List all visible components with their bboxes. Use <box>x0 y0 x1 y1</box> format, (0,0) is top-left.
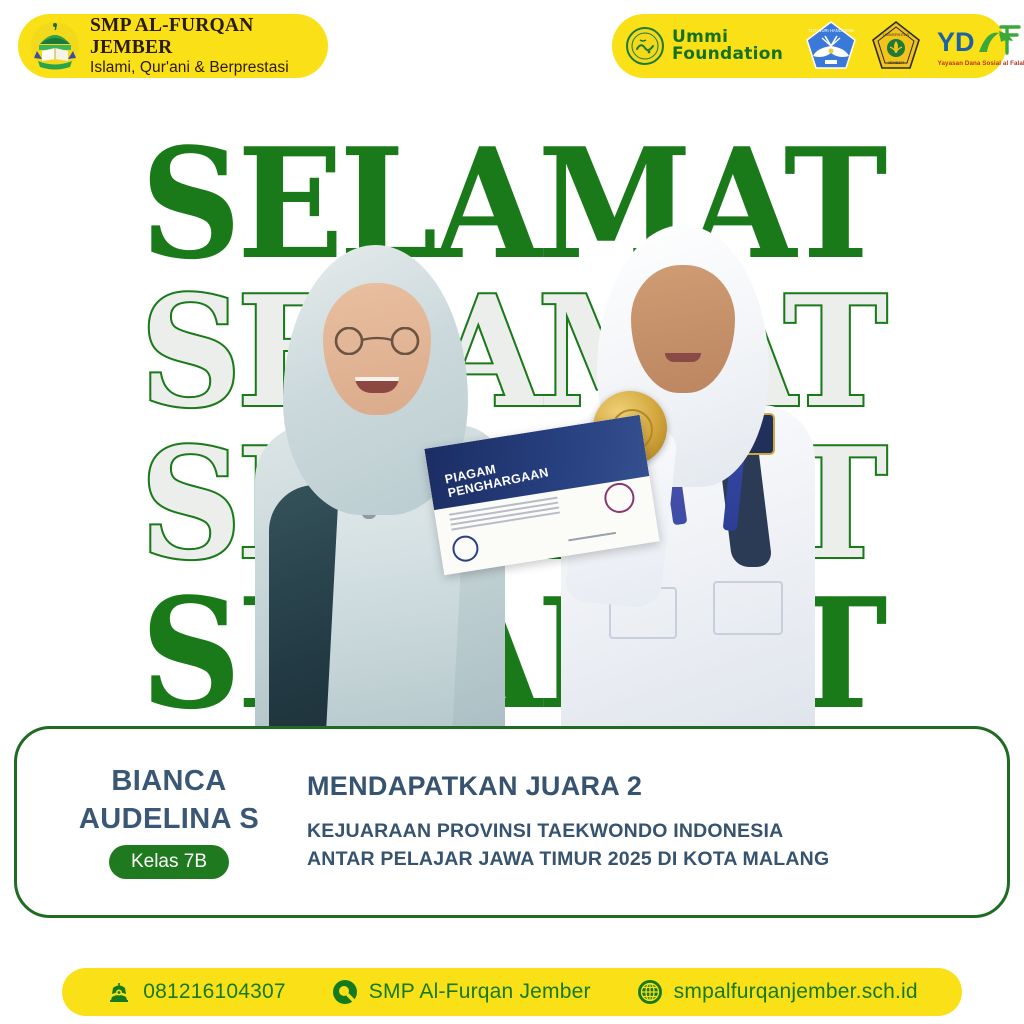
achievement-detail-line2: ANTAR PELAJAR JAWA TIMUR 2025 DI KOTA MA… <box>307 846 981 874</box>
partner-logos-chip: Ummi Foundation TUT WURI HANDAYANI UNIVE… <box>612 14 1006 78</box>
globe-icon <box>637 979 663 1005</box>
ummi-foundation-logo: Ummi Foundation <box>626 27 783 65</box>
school-title: SMP AL-FURQAN JEMBER <box>90 15 328 59</box>
class-badge: Kelas 7B <box>109 845 229 879</box>
svg-text:TUT WURI HANDAYANI: TUT WURI HANDAYANI <box>809 28 854 33</box>
achievement-detail-line1: KEJUARAAN PROVINSI TAEKWONDO INDONESIA <box>307 818 981 846</box>
achievement-card: BIANCA AUDELINA S Kelas 7B MENDAPATKAN J… <box>14 726 1010 918</box>
uniform-pocket-right <box>713 581 783 635</box>
school-tagline: Islami, Qur'ani & Berprestasi <box>90 59 328 76</box>
ydsf-subtitle: Yayasan Dana Sosial al Falah <box>938 60 1024 67</box>
certificate-stamp-icon <box>602 481 636 515</box>
tut-wuri-handayani-icon: TUT WURI HANDAYANI <box>805 20 857 72</box>
winner-name-line2: AUDELINA S <box>79 803 259 835</box>
social-handle: SMP Al-Furqan Jember <box>369 980 591 1004</box>
winner-name-line1: BIANCA <box>111 765 226 797</box>
svg-text:UNIVERSITAS: UNIVERSITAS <box>883 32 910 37</box>
contact-social[interactable]: SMP Al-Furqan Jember <box>332 979 591 1005</box>
telephone-icon <box>106 979 132 1005</box>
school-identity-chip: SMP AL-FURQAN JEMBER Islami, Qur'ani & B… <box>18 14 328 78</box>
achievement-title: MENDAPATKAN JUARA 2 <box>307 771 981 802</box>
congratulations-poster: SMP AL-FURQAN JEMBER Islami, Qur'ani & B… <box>0 0 1024 1024</box>
contact-footer: 081216104307 SMP Al-Furqan Jember <box>62 968 962 1016</box>
search-circle-icon <box>332 979 358 1005</box>
ydsf-logo-icon: YD Yayasan Dana Sosial al Falah <box>935 21 1024 71</box>
ummi-arabic-seal-icon <box>626 27 664 65</box>
school-name-block: SMP AL-FURQAN JEMBER Islami, Qur'ani & B… <box>90 15 328 76</box>
mosque-book-logo-icon <box>30 20 80 72</box>
ummi-line2: Foundation <box>672 46 783 64</box>
winner-block: BIANCA AUDELINA S Kelas 7B <box>43 765 295 880</box>
universitas-jember-icon: UNIVERSITAS JEMBER <box>871 20 921 72</box>
certificate-signature <box>568 532 616 541</box>
teacher-glasses-icon <box>325 327 429 355</box>
award-photo: PIAGAM PENGHARGAAN <box>255 215 815 735</box>
svg-text:YD: YD <box>937 27 975 57</box>
ummi-foundation-text: Ummi Foundation <box>672 29 783 64</box>
phone-number: 081216104307 <box>143 980 286 1004</box>
website-url: smpalfurqanjember.sch.id <box>674 980 918 1004</box>
certificate-seal-icon <box>451 534 481 564</box>
achievement-block: MENDAPATKAN JUARA 2 KEJUARAAN PROVINSI T… <box>295 771 981 873</box>
student-smile <box>665 353 701 362</box>
contact-phone[interactable]: 081216104307 <box>106 979 286 1005</box>
svg-text:JEMBER: JEMBER <box>888 60 904 65</box>
contact-website[interactable]: smpalfurqanjember.sch.id <box>637 979 918 1005</box>
